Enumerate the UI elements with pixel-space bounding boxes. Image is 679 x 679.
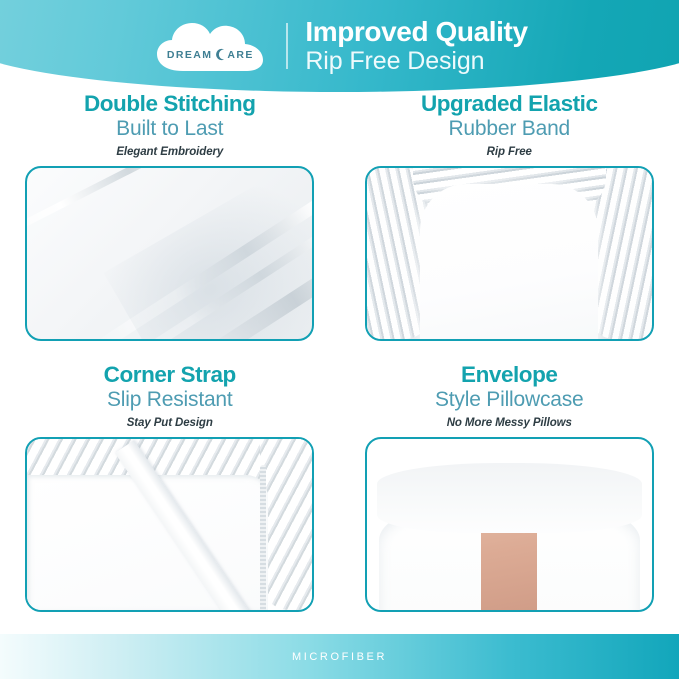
header-banner: DREAM ARE Improved Quality Rip Free Desi… (0, 0, 679, 92)
brand-name-first: DREAM (167, 49, 213, 61)
feature-cell-corner-strap: Corner Strap Slip Resistant Stay Put Des… (0, 363, 340, 634)
feature-cell-upgraded-elastic: Upgraded Elastic Rubber Band Rip Free (340, 92, 679, 363)
brand-name-rest: ARE (227, 49, 253, 61)
feature-caption: Upgraded Elastic Rubber Band Rip Free (362, 92, 658, 158)
feature-image-upgraded-elastic (365, 166, 654, 341)
header-divider (286, 23, 288, 69)
feature-note: Elegant Embroidery (22, 146, 318, 158)
feature-subtitle: Built to Last (22, 117, 318, 141)
feature-note: Rip Free (362, 146, 658, 158)
feature-image-double-stitching (25, 166, 314, 341)
feature-subtitle: Slip Resistant (22, 388, 318, 412)
feature-note: No More Messy Pillows (362, 417, 658, 429)
feature-subtitle: Rubber Band (362, 117, 658, 141)
footer-label: MICROFIBER (292, 651, 387, 663)
feature-note: Stay Put Design (22, 417, 318, 429)
feature-caption: Corner Strap Slip Resistant Stay Put Des… (22, 363, 318, 429)
brand-logo-text: DREAM ARE (151, 48, 269, 61)
feature-title: Corner Strap (22, 363, 318, 387)
feature-caption: Envelope Style Pillowcase No More Messy … (362, 363, 658, 429)
feature-cell-double-stitching: Double Stitching Built to Last Elegant E… (0, 92, 340, 363)
feature-title: Envelope (362, 363, 658, 387)
feature-caption: Double Stitching Built to Last Elegant E… (22, 92, 318, 158)
brand-logo: DREAM ARE (151, 17, 269, 75)
feature-title: Upgraded Elastic (362, 92, 658, 116)
header-text-block: Improved Quality Rip Free Design (305, 16, 527, 76)
cloud-icon (151, 17, 269, 75)
feature-title: Double Stitching (22, 92, 318, 116)
feature-image-corner-strap (25, 437, 314, 612)
feature-grid: Double Stitching Built to Last Elegant E… (0, 92, 679, 634)
feature-subtitle: Style Pillowcase (362, 388, 658, 412)
feature-cell-envelope-pillowcase: Envelope Style Pillowcase No More Messy … (340, 363, 679, 634)
feature-image-envelope-pillowcase (365, 437, 654, 612)
footer-bar: MICROFIBER (0, 634, 679, 679)
moon-in-c-icon (213, 48, 226, 61)
header-subtitle: Rip Free Design (305, 47, 527, 76)
header-title: Improved Quality (305, 17, 527, 46)
